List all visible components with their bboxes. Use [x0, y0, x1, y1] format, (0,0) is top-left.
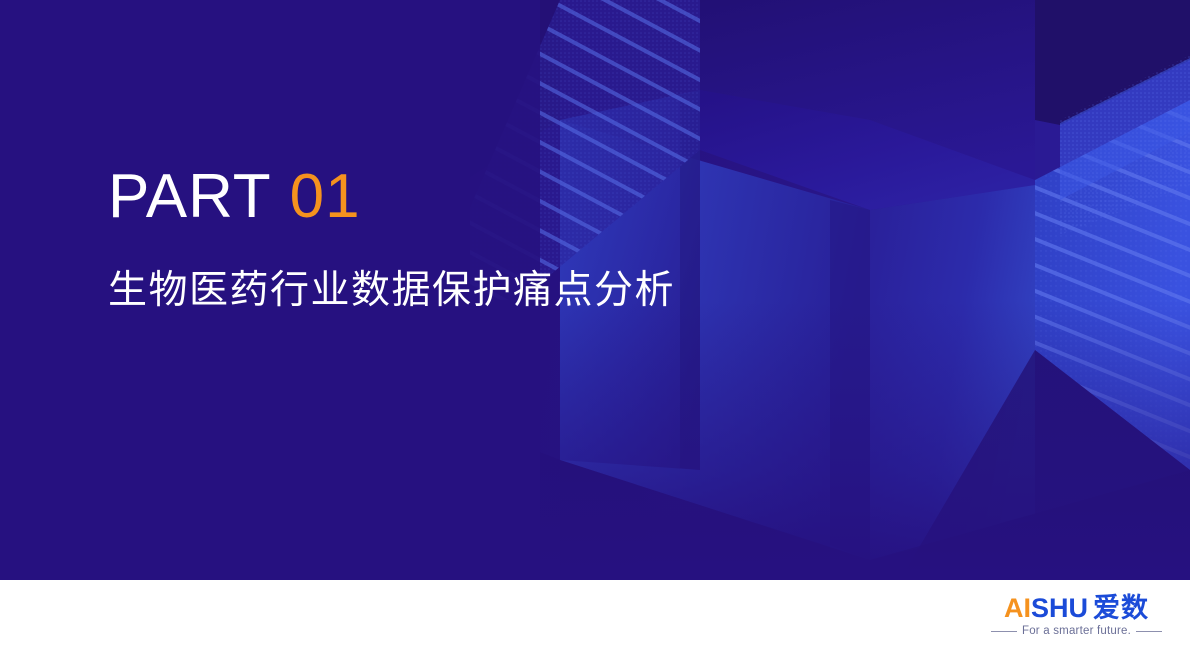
aishu-logo: AISHU爱数 For a smarter future.	[991, 594, 1162, 637]
section-subtitle: 生物医药行业数据保护痛点分析	[108, 268, 675, 314]
logo-ai-text: AI	[1004, 593, 1031, 623]
part-label: PART	[108, 162, 272, 231]
tagline-rule-right	[1136, 631, 1162, 632]
title-block: PART01 生物医药行业数据保护痛点分析	[108, 166, 675, 314]
logo-shu-text: SHU	[1031, 593, 1088, 623]
tagline-rule-left	[991, 631, 1017, 632]
part-heading: PART01	[108, 166, 675, 228]
slide-root: PART01 生物医药行业数据保护痛点分析 AISHU爱数 For a smar…	[0, 0, 1190, 669]
logo-tagline-row: For a smarter future.	[991, 625, 1162, 637]
logo-tagline-text: For a smarter future.	[1022, 625, 1131, 637]
logo-wordmark: AISHU爱数	[991, 594, 1162, 622]
footer-bar: AISHU爱数 For a smarter future.	[0, 580, 1190, 669]
logo-chinese-text: 爱数	[1093, 593, 1149, 623]
hero-background: PART01 生物医药行业数据保护痛点分析	[0, 0, 1190, 580]
part-number: 01	[290, 162, 361, 231]
